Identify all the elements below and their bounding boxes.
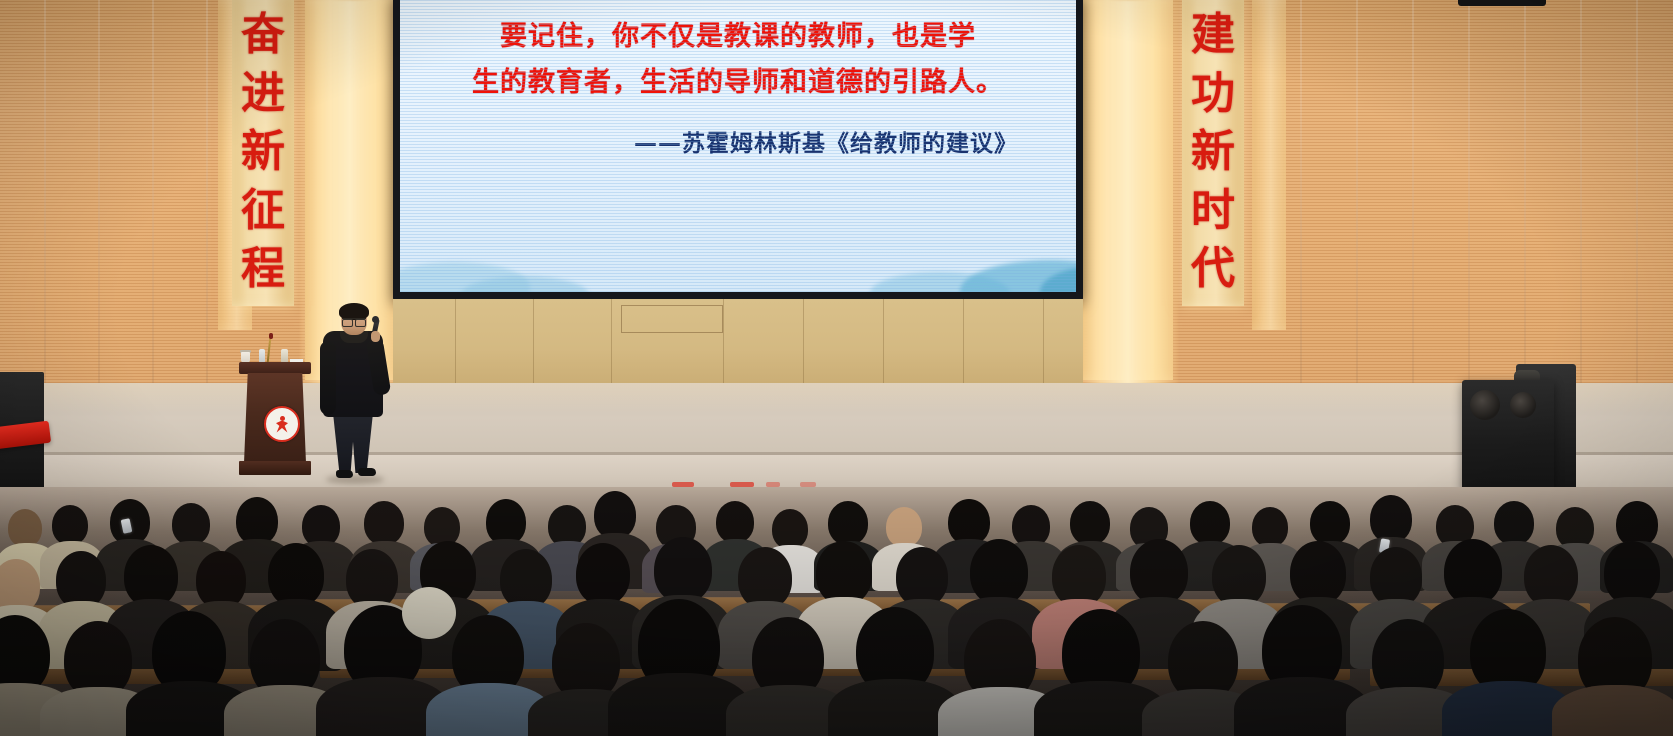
audience-head	[772, 509, 808, 549]
school-emblem	[264, 406, 300, 442]
right-vertical-banner: 建 功 新 时 代	[1182, 0, 1244, 306]
audience-head	[1290, 541, 1346, 605]
audience-head	[1130, 539, 1188, 605]
audience-head	[124, 545, 178, 607]
presenter	[320, 305, 386, 487]
quote-line-1: 要记住，你不仅是教课的教师，也是学	[426, 14, 1050, 60]
audience-head	[1524, 545, 1578, 607]
banner-char: 新	[1191, 123, 1235, 182]
audience-head	[1310, 501, 1350, 545]
banner-char: 功	[1191, 65, 1235, 124]
slide-content: 要记住，你不仅是教课的教师，也是学 生的教育者，生活的导师和道德的引路人。 ——…	[400, 0, 1076, 292]
water-bottle	[281, 349, 288, 363]
speaker-podium	[239, 362, 311, 475]
audience-head	[1052, 545, 1106, 607]
banner-char: 征	[241, 182, 285, 241]
presenter-shadow	[326, 475, 384, 484]
audience-head	[1212, 545, 1266, 607]
audience-head	[1494, 501, 1534, 545]
presenter-shoe	[358, 468, 376, 476]
auditorium-scene: 奋 进 新 征 程 建 功 新 时 代 要记住，你不仅是教课的教师，也是学 生的…	[0, 0, 1673, 736]
audience-head	[886, 507, 922, 547]
banner-char: 进	[241, 65, 285, 124]
audience-head	[1604, 541, 1660, 605]
banner-backing	[1252, 0, 1286, 330]
audience-head	[654, 537, 712, 603]
banner-char: 时	[1191, 182, 1235, 241]
audience-head	[500, 549, 552, 609]
banner-char: 奋	[241, 6, 285, 65]
audience-head	[716, 501, 754, 543]
led-projection-screen: 要记住，你不仅是教课的教师，也是学 生的教育者，生活的导师和道德的引路人。 ——…	[400, 0, 1076, 292]
microphone-head-icon	[372, 316, 379, 323]
audience-head	[1252, 507, 1288, 547]
presenter-legs	[333, 413, 373, 473]
audience-head	[1070, 501, 1110, 545]
presenter-hand	[371, 331, 380, 342]
banner-char: 建	[1191, 6, 1235, 65]
audience-head	[52, 505, 88, 545]
left-vertical-banner: 奋 进 新 征 程	[232, 0, 294, 306]
loudspeaker-cabinet	[1462, 380, 1554, 490]
speaker-driver	[1510, 392, 1536, 418]
podium-body	[244, 373, 306, 463]
audience-hair-accessory	[402, 587, 456, 639]
audience-head	[268, 543, 324, 607]
audience-head	[1370, 495, 1412, 543]
water-bottle	[259, 349, 265, 363]
podium-base	[239, 461, 311, 475]
audience-head	[172, 503, 210, 545]
audience-head	[8, 509, 42, 547]
audience-head	[1370, 547, 1422, 607]
under-screen-wall	[393, 299, 1083, 383]
audience-head	[1444, 539, 1502, 605]
led-screen-frame: 要记住，你不仅是教课的教师，也是学 生的教育者，生活的导师和道德的引路人。 ——…	[393, 0, 1083, 300]
quote-attribution: ——苏霍姆林斯基《给教师的建议》	[426, 124, 1050, 158]
audience-head	[1190, 501, 1230, 545]
audience-head	[236, 497, 278, 545]
banner-char: 新	[241, 123, 285, 182]
audience-head	[594, 491, 636, 539]
audience-head	[576, 543, 630, 605]
audience-head	[738, 547, 792, 609]
presenter-arm	[320, 341, 336, 415]
banner-char: 程	[241, 240, 285, 299]
quote-line-2: 生的教育者，生活的导师和道德的引路人。	[426, 60, 1050, 106]
warm-light-glow	[1078, 0, 1178, 385]
audience-shoulders	[1552, 685, 1673, 736]
banner-char: 代	[1191, 240, 1235, 299]
podium-microphone-icon	[269, 333, 273, 339]
ceiling-mounted-fixture	[1458, 0, 1546, 6]
glasses-icon	[342, 318, 366, 325]
presenter-shoe	[336, 470, 353, 478]
audience-head	[828, 501, 868, 545]
emblem-figure-icon	[275, 416, 289, 433]
seated-audience	[0, 487, 1673, 736]
podium-top	[239, 362, 311, 374]
audience-head	[896, 547, 948, 607]
audience-head	[970, 539, 1028, 605]
speaker-driver	[1470, 390, 1500, 420]
audience-head	[816, 541, 872, 605]
wall-access-hatch	[621, 305, 723, 333]
audience-head	[346, 549, 398, 609]
audience-head	[364, 501, 404, 545]
